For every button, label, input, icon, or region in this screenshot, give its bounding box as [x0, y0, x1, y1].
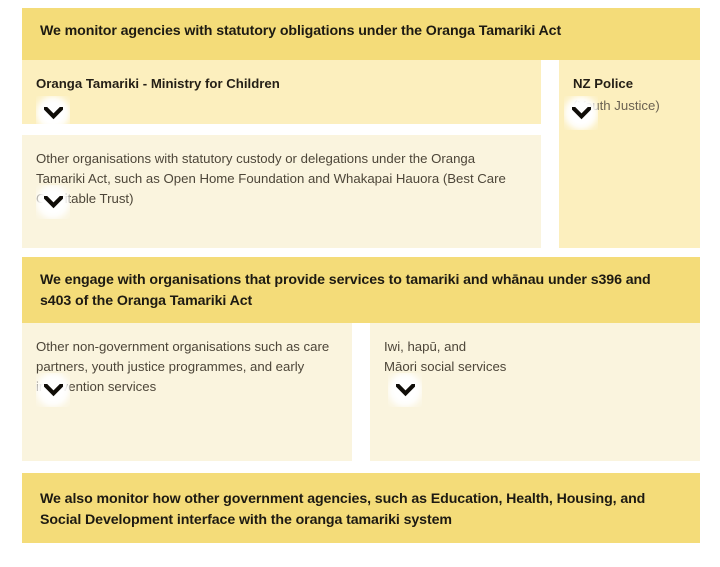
panel-oranga-tamariki-label: Oranga Tamariki - Ministry for Children [22, 60, 541, 108]
section-monitor-columns: Oranga Tamariki - Ministry for Children … [22, 60, 700, 248]
chevron-down-icon[interactable] [36, 185, 70, 219]
panel-other-organisations-label: Other organisations with statutory custo… [22, 135, 541, 222]
section-monitor-column-left: Oranga Tamariki - Ministry for Children … [22, 60, 541, 248]
panel-oranga-tamariki[interactable]: Oranga Tamariki - Ministry for Children [22, 60, 541, 124]
chevron-down-icon[interactable] [564, 96, 598, 130]
panel-nz-police[interactable]: NZ Police (Youth Justice) [559, 60, 700, 248]
panel-ngo-services[interactable]: Other non-government organisations such … [22, 323, 352, 461]
section-engage-columns: Other non-government organisations such … [22, 323, 700, 461]
section-engage-band: We engage with organisations that provid… [22, 257, 700, 323]
panel-divider [22, 124, 541, 135]
panel-other-organisations[interactable]: Other organisations with statutory custo… [22, 135, 541, 248]
panel-nz-police-label: NZ Police [559, 60, 700, 96]
panel-ngo-services-label: Other non-government organisations such … [22, 323, 352, 410]
section-monitor-heading: We monitor agencies with statutory oblig… [22, 8, 700, 55]
section-monitor: We monitor agencies with statutory oblig… [22, 8, 700, 248]
section-engage: We engage with organisations that provid… [22, 257, 700, 461]
section-other-agencies-band: We also monitor how other government age… [22, 473, 700, 543]
section-engage-heading: We engage with organisations that provid… [22, 257, 700, 324]
chevron-down-icon[interactable] [388, 373, 422, 407]
monitoring-scope-diagram: We monitor agencies with statutory oblig… [0, 0, 720, 567]
chevron-down-icon[interactable] [36, 96, 70, 130]
chevron-down-icon[interactable] [36, 373, 70, 407]
section-other-agencies: We also monitor how other government age… [22, 473, 700, 543]
section-monitor-band: We monitor agencies with statutory oblig… [22, 8, 700, 60]
section-other-agencies-heading: We also monitor how other government age… [22, 473, 700, 543]
